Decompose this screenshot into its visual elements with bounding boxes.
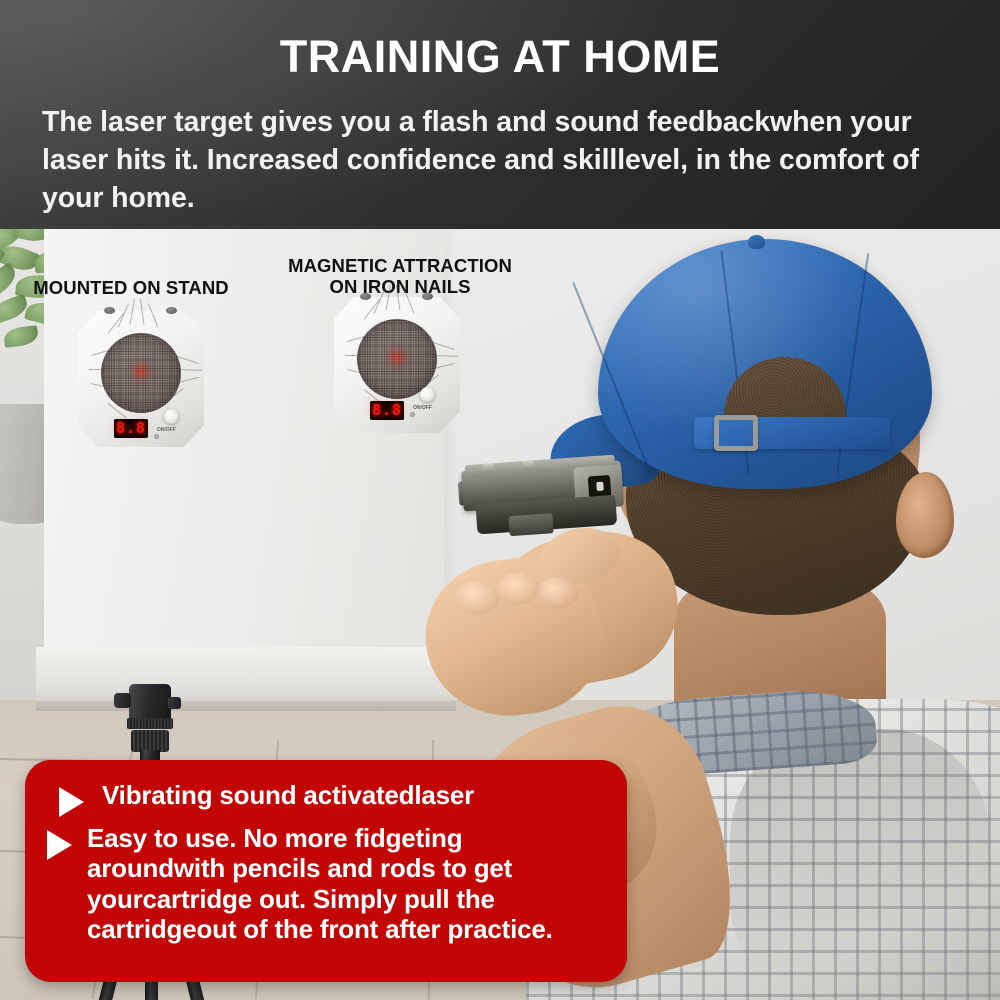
page-title: TRAINING AT HOME — [0, 34, 1000, 79]
cap-buckle[interactable] — [714, 415, 758, 451]
header-subtitle: The laser target gives you a flash and s… — [42, 104, 982, 218]
status-led — [154, 434, 159, 439]
feature-bullet-text: Easy to use. No more fidgeting aroundwit… — [87, 823, 605, 944]
ear — [896, 472, 954, 558]
device-display-value: 8.8 — [372, 403, 402, 418]
pistol-front-sight — [483, 463, 495, 473]
header-band: TRAINING AT HOME The laser target gives … — [0, 0, 1000, 229]
device-led-display: 8.8 — [370, 401, 404, 420]
product-banner: TRAINING AT HOME The laser target gives … — [0, 0, 1000, 1000]
feature-bullet-row: Vibrating sound activatedlaser — [47, 780, 605, 817]
laser-target-device-stand[interactable]: 8.8 ON/OFF — [78, 311, 204, 447]
knuckle-2 — [496, 573, 540, 605]
pistol-magazine-well — [508, 513, 553, 536]
power-button-label: ON/OFF — [157, 427, 176, 433]
knuckle-1 — [454, 581, 500, 615]
power-button[interactable] — [164, 409, 179, 424]
device-display-value: 8.8 — [116, 421, 146, 436]
shirt-shadow — [730, 729, 990, 1000]
device-mesh-texture — [101, 333, 181, 413]
feature-bullet-text: Vibrating sound activatedlaser — [102, 780, 474, 810]
device-target-pad — [101, 333, 181, 413]
triangle-bullet-icon — [47, 830, 72, 860]
device-screw-left — [104, 307, 115, 314]
triangle-bullet-icon — [59, 787, 84, 817]
device-screw-left — [360, 293, 371, 300]
label-mounted-on-stand: MOUNTED ON STAND — [20, 277, 242, 298]
cap-top-button — [748, 235, 765, 249]
tripod-head-band — [127, 718, 173, 729]
status-led — [410, 412, 415, 417]
features-callout-box: Vibrating sound activatedlaser Easy to u… — [25, 760, 627, 982]
pistol-mid-sight — [523, 460, 535, 470]
tripod-knob-left[interactable] — [114, 693, 131, 708]
knuckle-3 — [536, 577, 578, 609]
tripod-collar — [131, 730, 169, 752]
device-led-display: 8.8 — [114, 419, 148, 438]
device-screw-right — [166, 307, 177, 314]
tripod-knob-right[interactable] — [168, 697, 181, 709]
pistol-sight-dot — [596, 482, 604, 491]
feature-bullet-row: Easy to use. No more fidgeting aroundwit… — [47, 823, 605, 944]
